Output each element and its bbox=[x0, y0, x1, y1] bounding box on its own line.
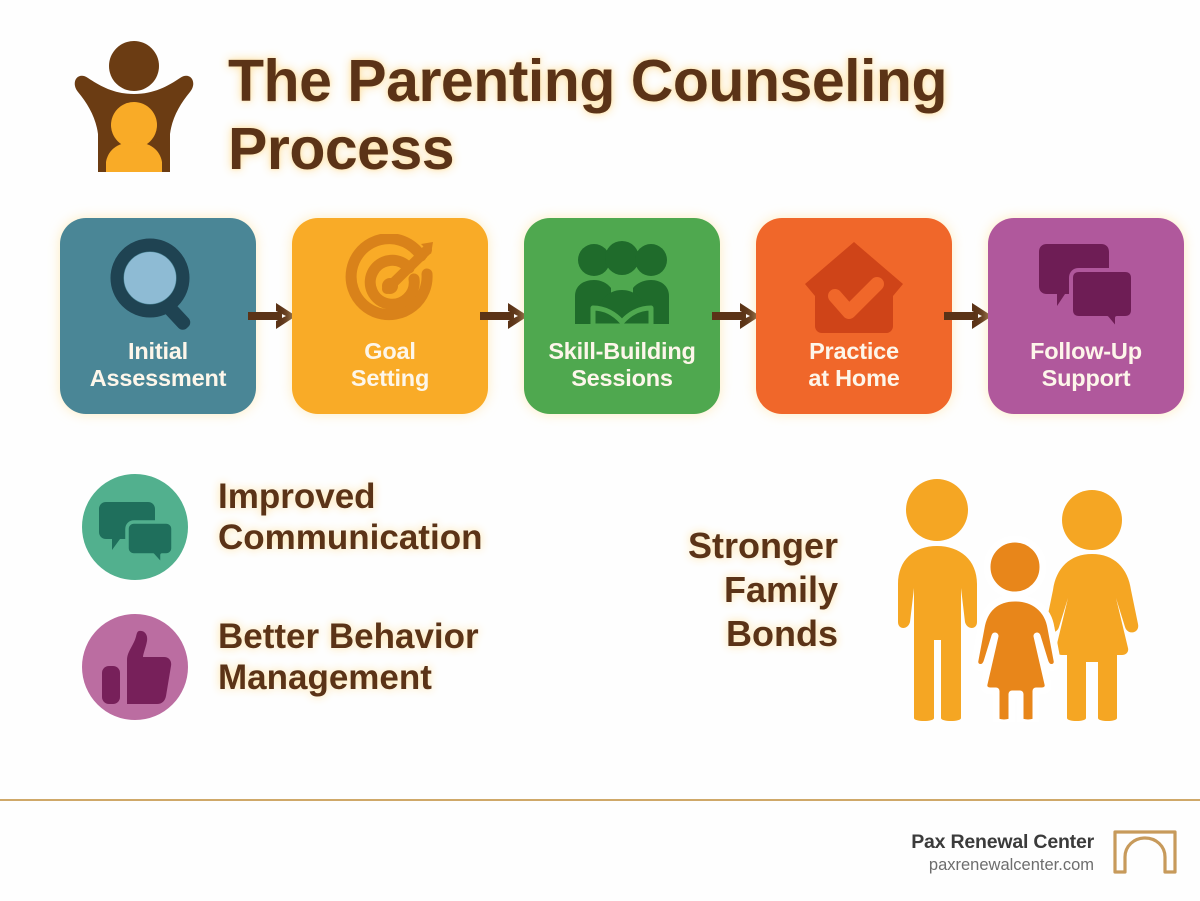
page-title-line-2: Process bbox=[228, 116, 1128, 184]
process-step-label: Follow-Up Support bbox=[994, 338, 1178, 393]
process-step-label: Practice at Home bbox=[762, 338, 946, 393]
footer-brand-url[interactable]: paxrenewalcenter.com bbox=[929, 856, 1094, 875]
page-title: The Parenting Counseling Process bbox=[228, 48, 1128, 184]
parent-embracing-child-icon bbox=[72, 38, 196, 178]
process-step-skill-building-sessions[interactable]: Skill-Building Sessions bbox=[524, 218, 720, 414]
speech-bubbles-icon bbox=[1031, 234, 1141, 334]
process-step-practice-at-home[interactable]: Practice at Home bbox=[756, 218, 952, 414]
process-step-initial-assessment[interactable]: Initial Assessment bbox=[60, 218, 256, 414]
magnifying-glass-icon bbox=[103, 234, 213, 334]
family-of-three-icon bbox=[870, 472, 1160, 722]
process-steps-strip: Initial Assessment Goal Setting bbox=[0, 218, 1200, 414]
benefits-list: Improved Communication Better Behavior M… bbox=[0, 462, 620, 752]
family-bonds-heading: Stronger Family Bonds bbox=[618, 524, 838, 656]
target-with-arrow-icon bbox=[335, 234, 445, 334]
process-step-label: Initial Assessment bbox=[66, 338, 250, 393]
process-step-follow-up-support[interactable]: Follow-Up Support bbox=[988, 218, 1184, 414]
process-step-label: Goal Setting bbox=[298, 338, 482, 393]
arch-gateway-icon bbox=[1112, 829, 1178, 875]
header: The Parenting Counseling Process bbox=[0, 0, 1200, 200]
house-with-check-icon bbox=[799, 234, 909, 334]
process-step-goal-setting[interactable]: Goal Setting bbox=[292, 218, 488, 414]
footer: Pax Renewal Center paxrenewalcenter.com bbox=[0, 801, 1200, 901]
thumbs-up-icon bbox=[82, 614, 188, 720]
family-bonds-block: Stronger Family Bonds bbox=[608, 462, 1200, 752]
footer-brand-name: Pax Renewal Center bbox=[911, 831, 1094, 854]
chat-bubbles-icon bbox=[82, 474, 188, 580]
page-title-line-1: The Parenting Counseling bbox=[228, 48, 1128, 116]
group-of-people-icon bbox=[567, 234, 677, 334]
process-step-label: Skill-Building Sessions bbox=[530, 338, 714, 393]
